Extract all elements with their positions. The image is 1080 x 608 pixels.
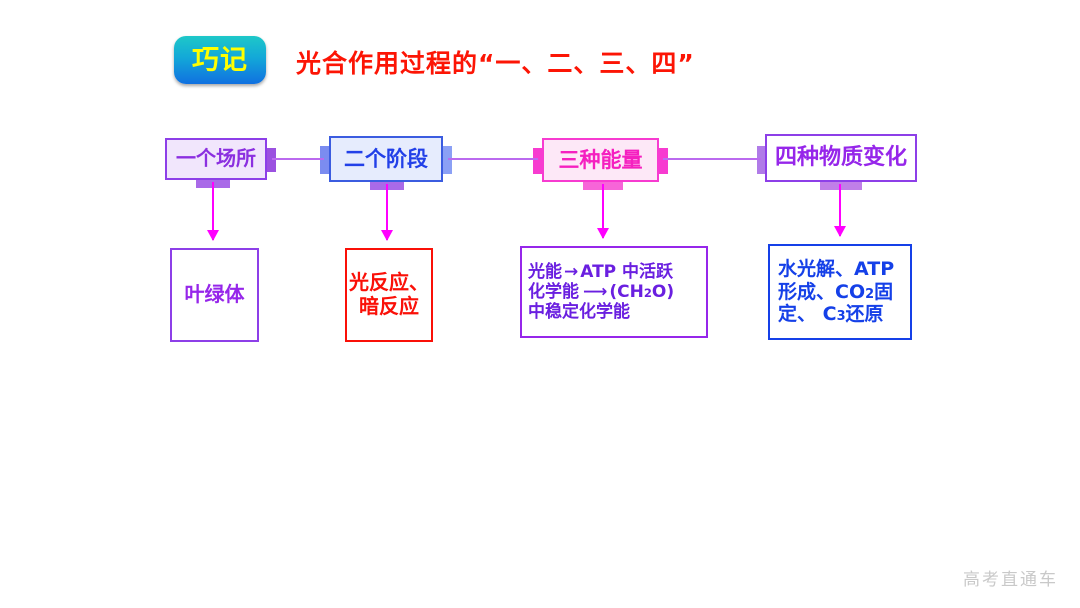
energy-conversion-atp: ATP 中活跃 — [580, 262, 673, 282]
node-four-changes-label: 四种物质变化 — [775, 145, 907, 171]
matter-changes-c3-pre: 定、 C — [778, 303, 837, 325]
node-reactions-line-1: 光反应、 — [349, 271, 429, 295]
arrow-down-one-place — [212, 182, 214, 240]
node-one-place[interactable]: 一个场所 — [165, 138, 267, 180]
matter-changes-co2-pre: 形成、CO — [778, 281, 865, 303]
node-two-stages-label: 二个阶段 — [344, 147, 428, 172]
connector-line-one-to-two — [272, 158, 324, 160]
node-chloroplast-label: 叶绿体 — [185, 283, 245, 307]
matter-changes-line-1: 水光解、ATP — [778, 258, 894, 280]
energy-conversion-light: 光能 — [528, 262, 562, 282]
node-energy-conversion[interactable]: 光能→ATP 中活跃 化学能⟶(CH2O) 中稳定化学能 — [520, 246, 708, 338]
energy-conversion-ch2o-open: (CH — [609, 282, 643, 302]
node-two-stages[interactable]: 二个阶段 — [329, 136, 443, 182]
node-reactions-line-2: 暗反应 — [359, 295, 419, 319]
matter-changes-co2-post: 固 — [874, 281, 893, 303]
connector-line-two-to-three — [448, 158, 538, 160]
matter-changes-c3-sub: 3 — [837, 309, 846, 324]
node-three-energy[interactable]: 三种能量 — [542, 138, 659, 182]
energy-conversion-chem: 化学能 — [528, 282, 579, 302]
energy-conversion-line-1: 光能→ATP 中活跃 — [528, 262, 673, 282]
energy-conversion-ch2o-sub: 2 — [644, 287, 652, 301]
right-arrow-icon: → — [562, 262, 580, 282]
matter-changes-co2-sub: 2 — [865, 287, 874, 302]
slide-canvas: 巧记 光合作用过程的“一、二、三、四” 一个场所 二个阶段 三种能量 四种物质变… — [0, 0, 1080, 608]
arrow-down-two-stages — [386, 184, 388, 240]
node-matter-changes[interactable]: 水光解、ATP 形成、CO2 固 定、 C3 还原 — [768, 244, 912, 340]
node-three-energy-label: 三种能量 — [559, 148, 643, 173]
node-four-changes[interactable]: 四种物质变化 — [765, 134, 917, 182]
energy-conversion-line-3: 中稳定化学能 — [528, 302, 630, 322]
energy-conversion-line-2: 化学能⟶(CH2O) — [528, 282, 674, 302]
matter-changes-c3-post: 还原 — [846, 303, 884, 325]
matter-changes-line-2: 形成、CO2 固 — [778, 281, 893, 303]
node-one-place-label: 一个场所 — [176, 147, 256, 171]
node-chloroplast[interactable]: 叶绿体 — [170, 248, 259, 342]
matter-changes-line-3: 定、 C3 还原 — [778, 303, 884, 325]
tip-badge: 巧记 — [174, 36, 266, 84]
long-right-arrow-icon: ⟶ — [579, 282, 609, 302]
arrow-down-four-changes — [839, 184, 841, 236]
arrow-down-three-energy — [602, 184, 604, 238]
tip-badge-label: 巧记 — [192, 47, 248, 74]
watermark: 高考直通车 — [963, 565, 1058, 590]
node-reactions[interactable]: 光反应、 暗反应 — [345, 248, 433, 342]
energy-conversion-ch2o-close: O) — [652, 282, 674, 302]
connector-line-three-to-four — [663, 158, 761, 160]
slide-headline: 光合作用过程的“一、二、三、四” — [296, 44, 695, 80]
